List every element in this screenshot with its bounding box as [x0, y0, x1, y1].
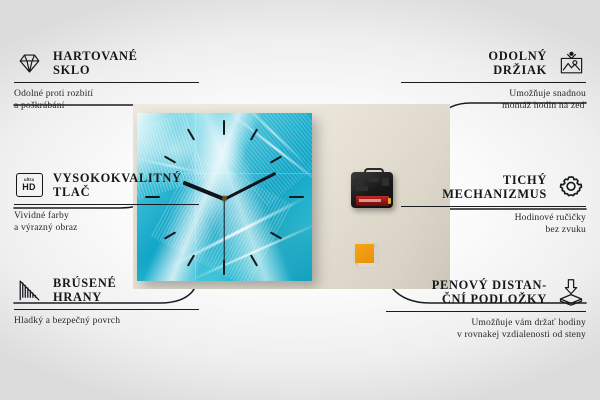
feature-tempered-glass: HARTOVANÉ SKLO Odolné proti rozbití a po…: [14, 48, 199, 112]
mechanism-battery: [356, 196, 389, 206]
feature-desc-line2: a poškrábání: [14, 100, 199, 112]
diamond-icon: [14, 48, 44, 78]
feature-title-line2: TLAČ: [53, 185, 182, 200]
feature-title-line2: HRANY: [53, 290, 116, 305]
feature-desc-line2: montáž hodin na zeď: [401, 100, 586, 112]
clock-second-hand: [223, 199, 224, 261]
clock-mechanism-module: [351, 168, 393, 208]
feature-desc-line1: Umožňuje vám držať hodiny: [386, 317, 586, 329]
feature-title-line1: HARTOVANÉ: [53, 49, 138, 64]
feature-title-line2: SKLO: [53, 63, 138, 78]
clock-center-hub: [222, 196, 227, 201]
mechanism-body: [351, 172, 393, 208]
feature-polished-edges: BRÚSENÉ HRANY Hladký a bezpečný povrch: [14, 275, 199, 327]
feature-desc-line1: Hodinové ručičky: [401, 212, 586, 224]
picture-hanger-icon: [556, 48, 586, 78]
feature-foam-spacers: PENOVÝ DISTAN- ČNÍ PODLOŽKY Umožňuje vám…: [386, 277, 586, 341]
feature-desc-line2: bez zvuku: [401, 224, 586, 236]
press-pad-icon: [556, 277, 586, 307]
feature-divider: [386, 311, 586, 312]
feature-title-line1: TICHÝ: [442, 173, 547, 188]
feature-desc-line1: Odolné proti rozbití: [14, 88, 199, 100]
feature-divider: [14, 309, 199, 310]
feature-title-line2: ČNÍ PODLOŽKY: [432, 292, 547, 307]
feature-silent-mechanism: TICHÝ MECHANIZMUS Hodinové ručičky bez z…: [401, 172, 586, 236]
ultra-hd-icon: ultra HD: [14, 170, 44, 200]
foam-spacer-pad: [355, 244, 374, 263]
infographic-canvas: HARTOVANÉ SKLO Odolné proti rozbití a po…: [0, 0, 600, 400]
feature-desc-line1: Vividné farby: [14, 210, 199, 222]
feature-divider: [401, 82, 586, 83]
feature-desc-line1: Hladký a bezpečný povrch: [14, 315, 199, 327]
feature-title-line1: ODOLNÝ: [488, 49, 547, 64]
feature-title-line2: DRŽIAK: [488, 63, 547, 78]
feature-title-line1: BRÚSENÉ: [53, 276, 116, 291]
feature-title-line2: MECHANIZMUS: [442, 187, 547, 202]
feature-title-line1: VYSOKOKVALITNÝ: [53, 171, 182, 186]
feature-high-quality-print: ultra HD VYSOKOKVALITNÝ TLAČ Vividné far…: [14, 170, 199, 234]
feature-desc-line1: Umožňuje snadnou: [401, 88, 586, 100]
feature-desc-line2: v rovnakej vzdialenosti od steny: [386, 329, 586, 341]
gear-icon: [556, 172, 586, 202]
feature-divider: [401, 206, 586, 207]
feature-title-line1: PENOVÝ DISTAN-: [432, 278, 547, 293]
feature-divider: [14, 204, 199, 205]
feature-durable-hanger: ODOLNÝ DRŽIAK Umožňuje snadnou montáž ho…: [401, 48, 586, 112]
ultra-hd-icon-main-text: HD: [22, 183, 35, 192]
feature-divider: [14, 82, 199, 83]
beveled-edge-icon: [14, 275, 44, 305]
feature-desc-line2: a výrazný obraz: [14, 222, 199, 234]
